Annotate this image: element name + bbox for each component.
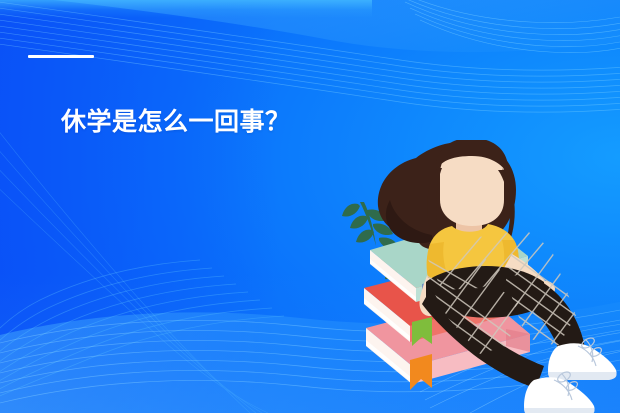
banner-image: 休学是怎么一回事？ (0, 0, 620, 413)
bookmark-orange (410, 354, 432, 390)
background-top-cyan-band (0, 0, 372, 18)
page-title: 休学是怎么一回事？ (61, 108, 291, 136)
title-accent-rule (28, 55, 94, 58)
illustration-woman-on-books (330, 140, 620, 413)
